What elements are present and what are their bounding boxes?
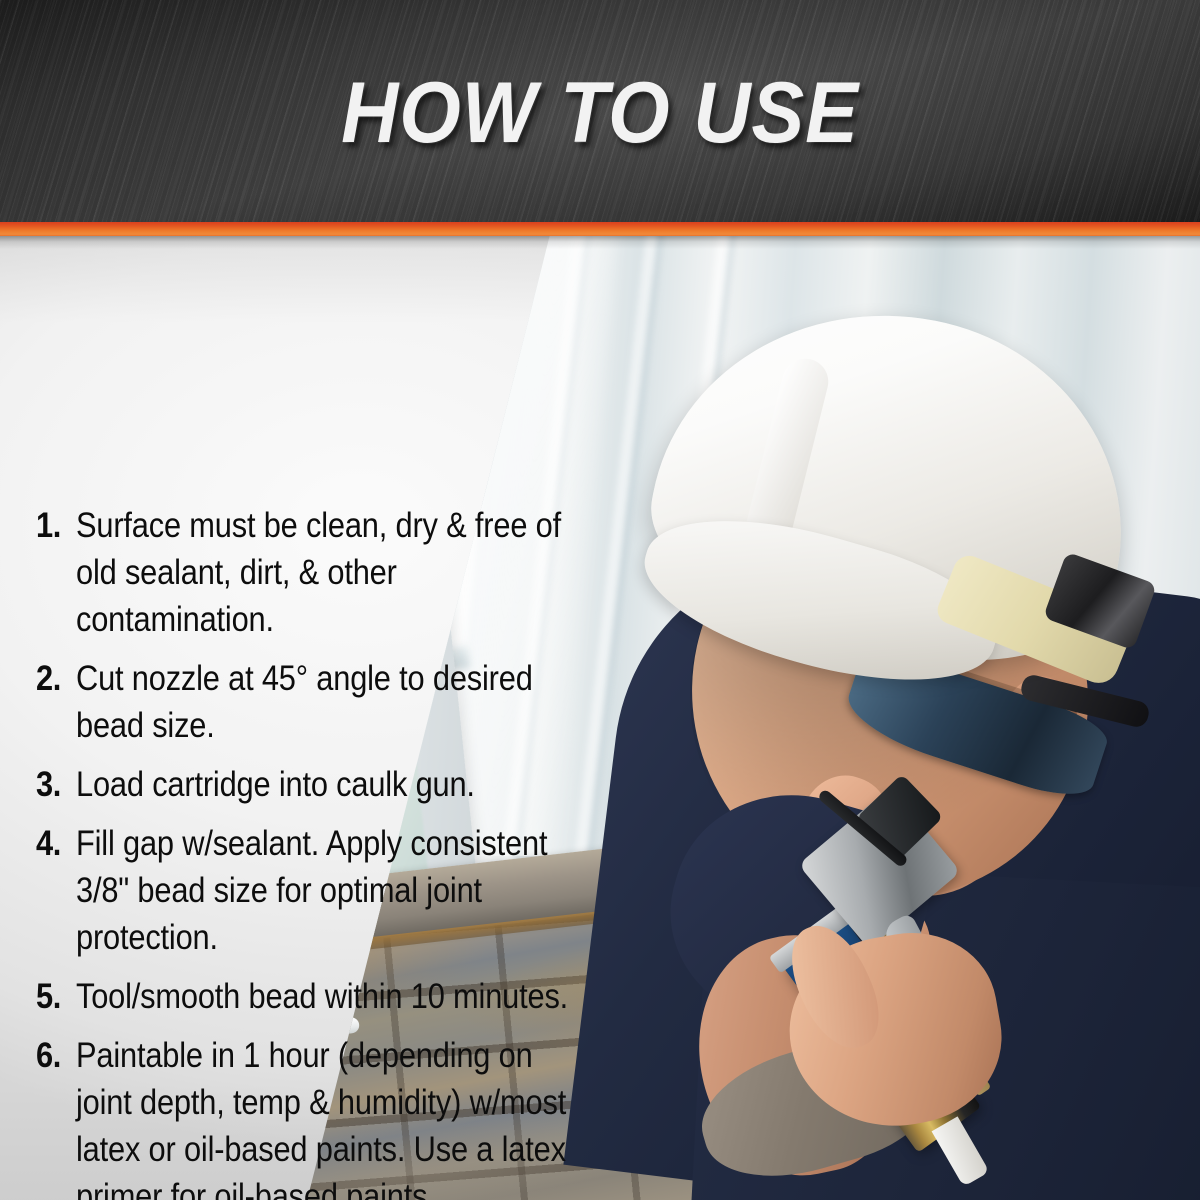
list-item-text: Tool/smooth bead within 10 minutes. xyxy=(76,973,572,1020)
page-title: HOW TO USE xyxy=(48,0,1152,222)
list-item-number: 6. xyxy=(36,1032,71,1079)
list-item-text: Surface must be clean, dry & free of old… xyxy=(76,502,572,643)
list-item: 3. Load cartridge into caulk gun. xyxy=(36,761,640,808)
list-item: 2. Cut nozzle at 45° angle to desired be… xyxy=(36,655,640,749)
list-item: 5. Tool/smooth bead within 10 minutes. xyxy=(36,973,640,1020)
list-item-number: 4. xyxy=(36,820,71,867)
list-item-number: 2. xyxy=(36,655,71,702)
list-item-number: 1. xyxy=(36,502,71,549)
list-item-text: Load cartridge into caulk gun. xyxy=(76,761,572,808)
list-item-text: Cut nozzle at 45° angle to desired bead … xyxy=(76,655,572,749)
content-area: DYNA DAP xyxy=(0,236,1200,1200)
list-item: 6. Paintable in 1 hour (depending on joi… xyxy=(36,1032,640,1200)
accent-bar xyxy=(0,222,1200,236)
list-item-number: 3. xyxy=(36,761,71,808)
list-item: 4. Fill gap w/sealant. Apply consistent … xyxy=(36,820,640,961)
how-to-use-panel: HOW TO USE xyxy=(0,0,1200,1200)
list-item-number: 5. xyxy=(36,973,71,1020)
list-item: 1. Surface must be clean, dry & free of … xyxy=(36,502,640,643)
list-item-text: Paintable in 1 hour (depending on joint … xyxy=(76,1032,572,1200)
list-item-text: Fill gap w/sealant. Apply consistent 3/8… xyxy=(76,820,572,961)
header-banner: HOW TO USE xyxy=(0,0,1200,222)
instruction-list: 1. Surface must be clean, dry & free of … xyxy=(0,472,640,1200)
